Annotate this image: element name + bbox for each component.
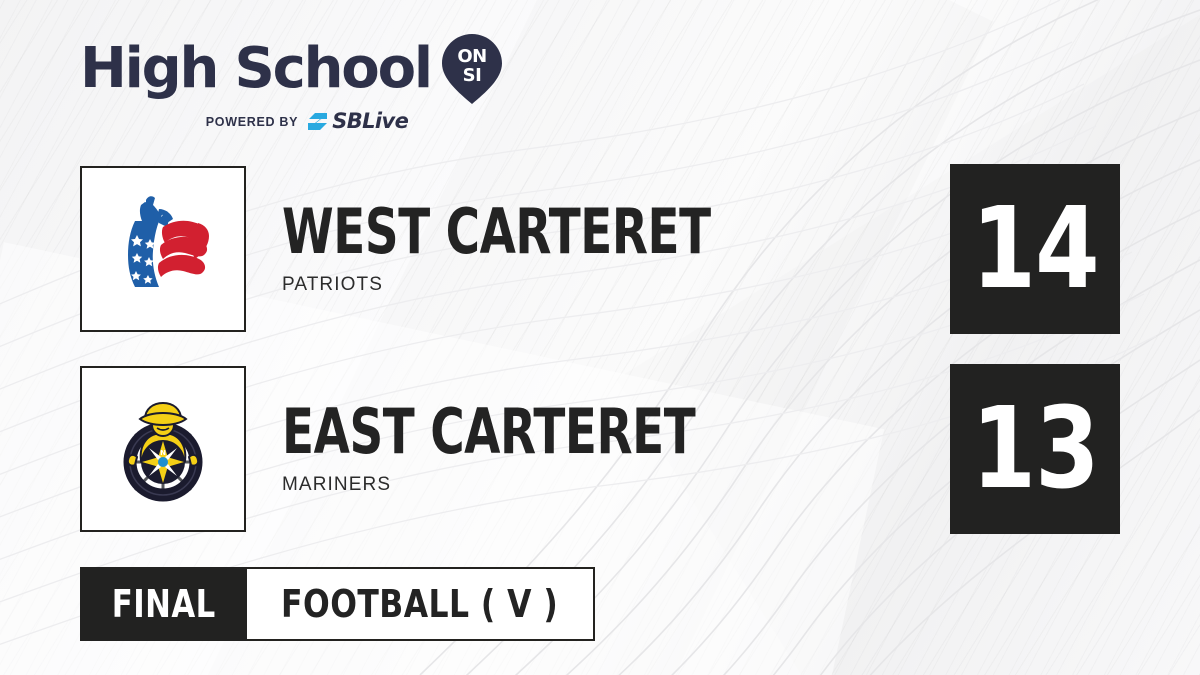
on-si-pin-icon: ON SI xyxy=(441,33,503,105)
status-label: FINAL xyxy=(112,582,216,626)
team-name: WEST CARTERET xyxy=(282,202,986,262)
team-score: 13 xyxy=(971,393,1098,505)
team-score-box: 13 xyxy=(950,364,1120,534)
team-score: 14 xyxy=(971,193,1098,305)
svg-text:SI: SI xyxy=(463,65,482,86)
mariner-ships-wheel-logo-icon: N xyxy=(97,383,229,515)
brand-header: High School ON SI POWERED BY xyxy=(80,33,510,132)
sport-panel: FOOTBALL ( V ) xyxy=(247,567,594,641)
status-badge: FINAL xyxy=(80,567,247,641)
team-score-box: 14 xyxy=(950,164,1120,334)
team-name: EAST CARTERET xyxy=(282,402,986,462)
powered-by-label: POWERED BY xyxy=(206,115,298,129)
powered-by-row: POWERED BY SBLive xyxy=(80,111,510,132)
svg-text:N: N xyxy=(160,449,166,457)
sblive-s-mark-icon xyxy=(307,111,329,132)
patriot-flag-logo-icon xyxy=(97,183,229,315)
svg-text:ON: ON xyxy=(457,46,486,67)
sport-label: FOOTBALL ( V ) xyxy=(281,582,558,626)
game-status-bar: FINAL FOOTBALL ( V ) xyxy=(80,567,595,641)
sblive-logo: SBLive xyxy=(307,111,408,132)
team-logo-card xyxy=(80,166,246,332)
page-title: High School xyxy=(80,41,431,97)
sblive-wordmark: SBLive xyxy=(332,111,408,132)
team-logo-card: N xyxy=(80,366,246,532)
scoreboard-graphic: High School ON SI POWERED BY xyxy=(0,0,1200,675)
